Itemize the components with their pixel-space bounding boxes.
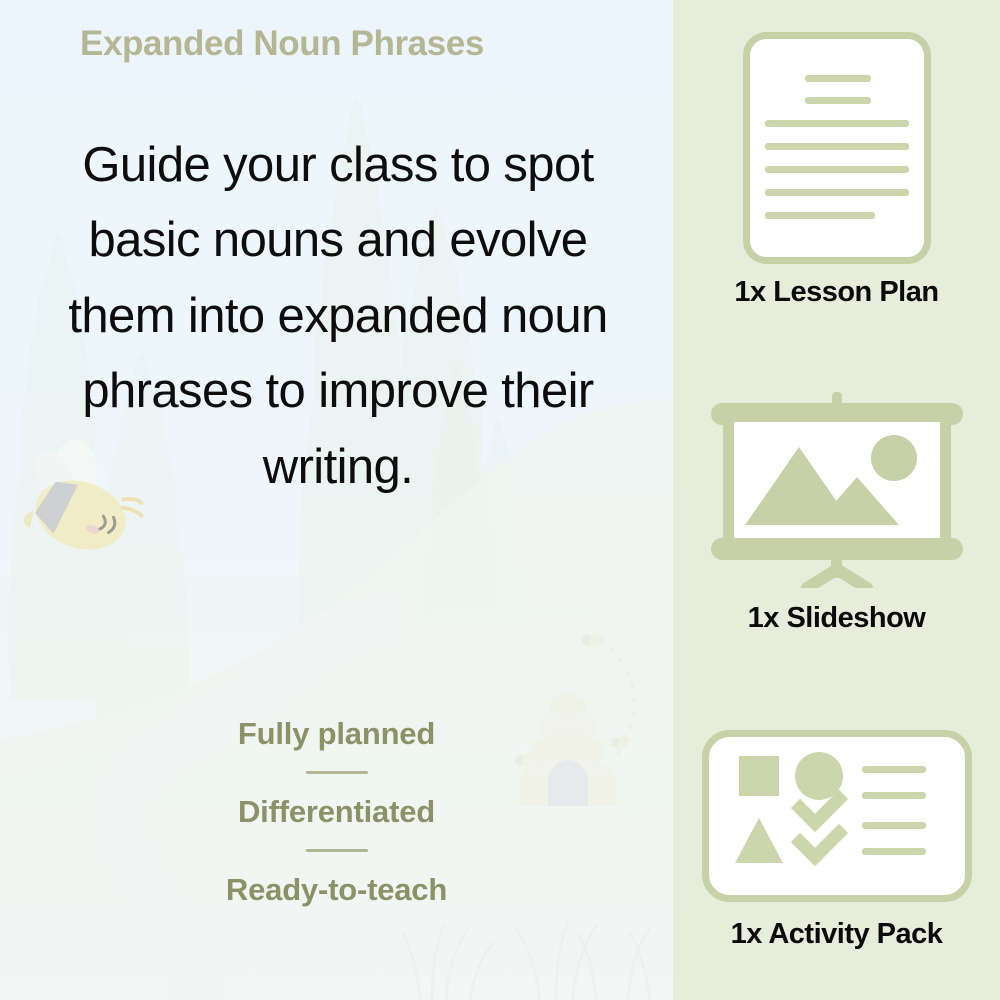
asset-item-slideshow: 1x Slideshow bbox=[673, 392, 1000, 635]
left-panel: Expanded Noun Phrases Guide your class t… bbox=[0, 0, 673, 1000]
feature-item-1: Fully planned bbox=[0, 718, 673, 749]
asset-label: 1x Lesson Plan bbox=[673, 276, 1000, 309]
asset-item-activity-pack: 1x Activity Pack bbox=[673, 730, 1000, 951]
asset-item-lesson-plan: 1x Lesson Plan bbox=[673, 32, 1000, 309]
promo-graphic: Expanded Noun Phrases Guide your class t… bbox=[0, 0, 1000, 1000]
feature-divider bbox=[306, 771, 368, 774]
projector-screen-icon bbox=[703, 392, 971, 588]
activity-card-icon bbox=[702, 730, 972, 902]
feature-item-3: Ready-to-teach bbox=[0, 874, 673, 905]
feature-list: Fully planned Differentiated Ready-to-te… bbox=[0, 718, 673, 905]
page-title: Expanded Noun Phrases bbox=[80, 24, 620, 64]
feature-label: Ready-to-teach bbox=[0, 874, 673, 905]
document-lines-icon bbox=[743, 32, 931, 264]
description-text: Guide your class to spot basic nouns and… bbox=[58, 128, 618, 505]
asset-label: 1x Activity Pack bbox=[673, 918, 1000, 951]
asset-label: 1x Slideshow bbox=[673, 602, 1000, 635]
feature-item-2: Differentiated bbox=[0, 796, 673, 827]
feature-label: Fully planned bbox=[0, 718, 673, 749]
assets-panel: 1x Lesson Plan bbox=[673, 0, 1000, 1000]
feature-divider bbox=[306, 849, 368, 852]
feature-label: Differentiated bbox=[0, 796, 673, 827]
